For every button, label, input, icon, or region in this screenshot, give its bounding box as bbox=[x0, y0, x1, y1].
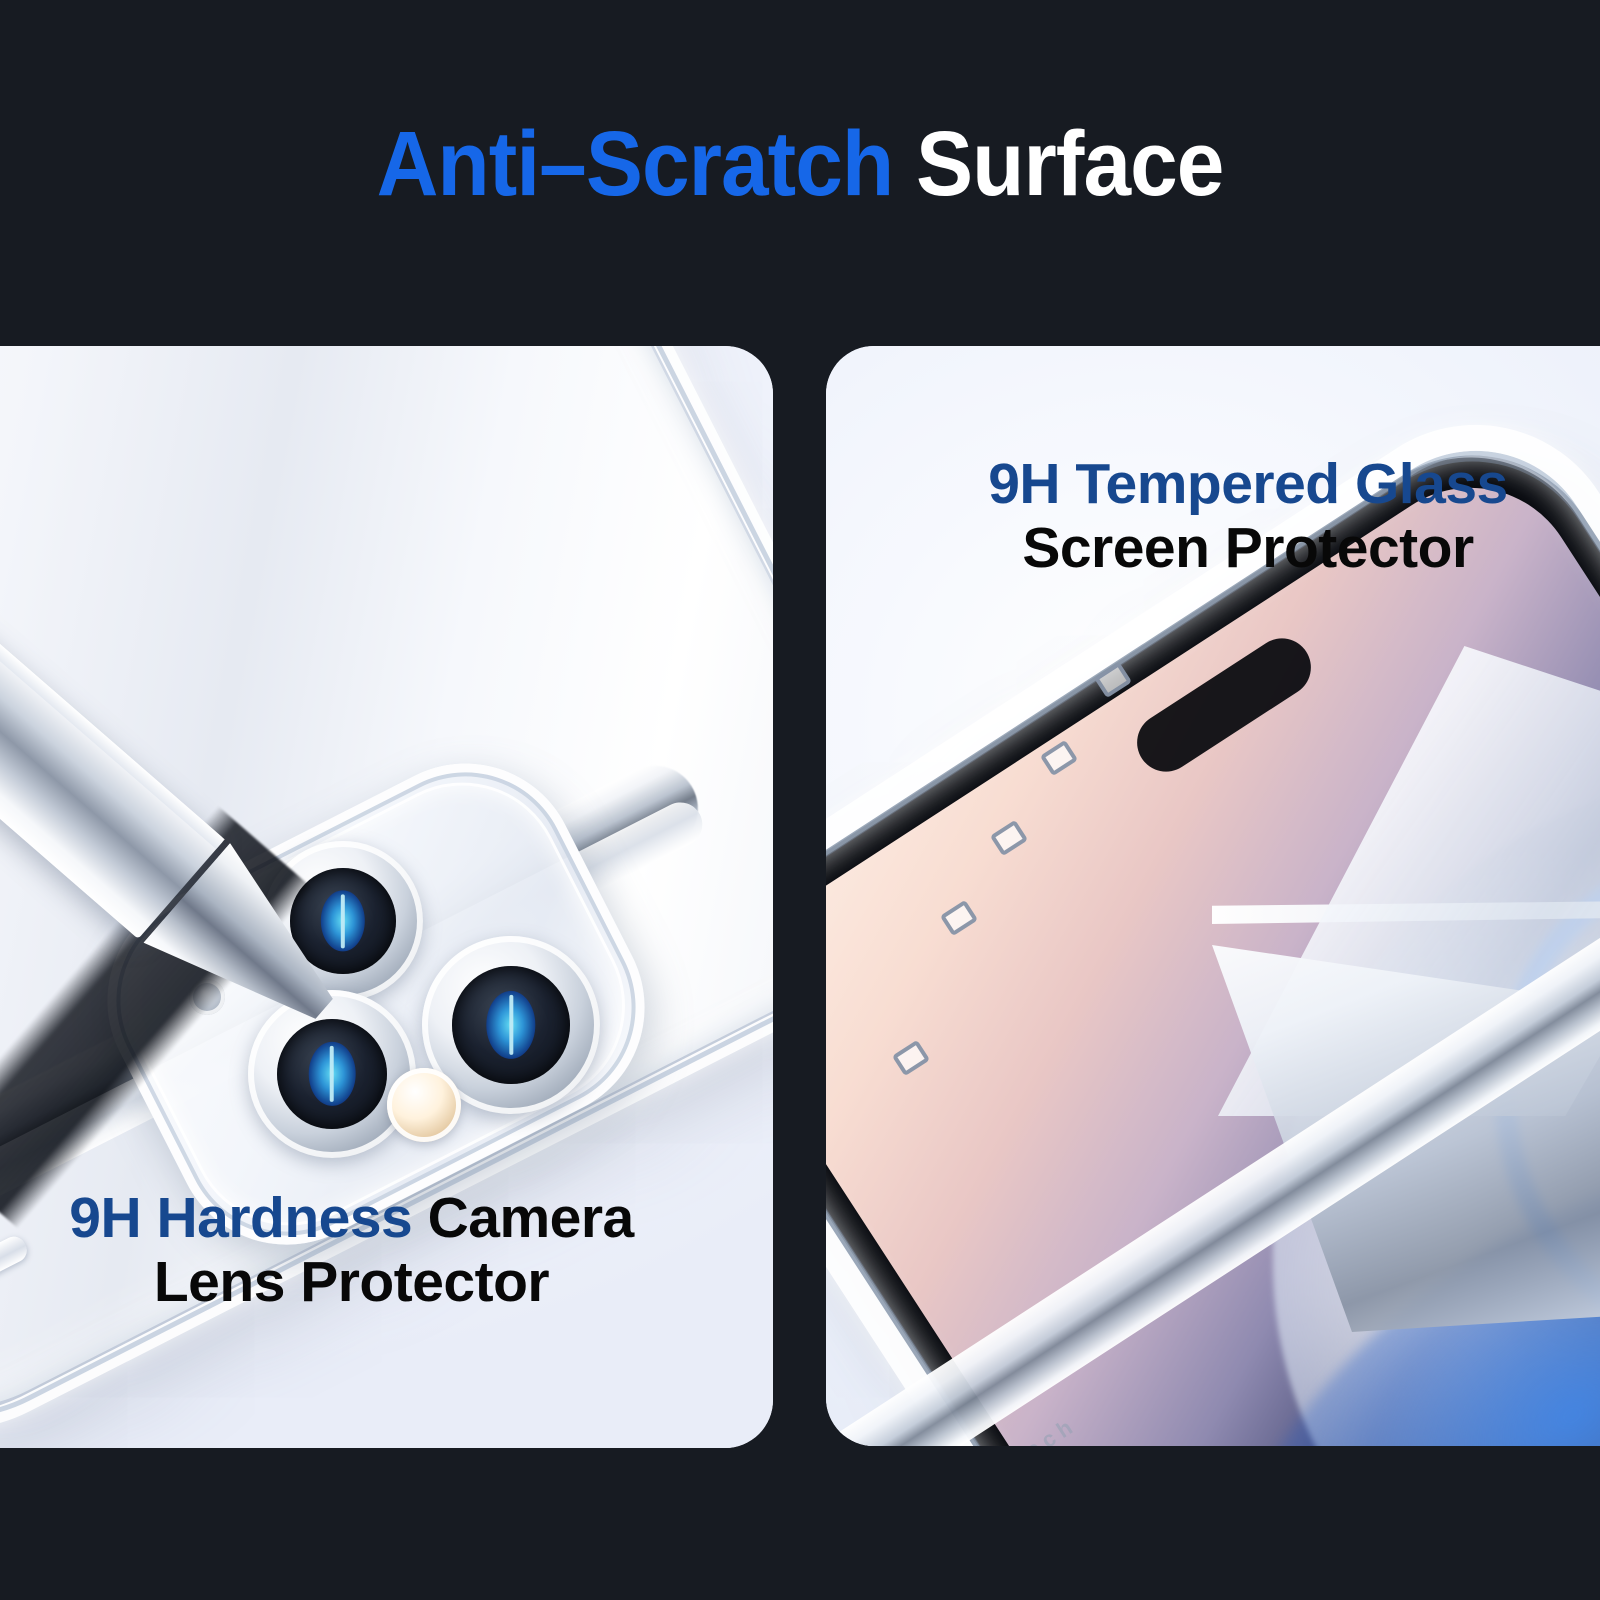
lens-glass bbox=[452, 966, 570, 1084]
caption-accent: 9H Hardness bbox=[69, 1186, 412, 1250]
headline-separator: – bbox=[539, 113, 586, 215]
headline-accent-2: Scratch bbox=[586, 113, 893, 215]
caption-line-1: 9H Hardness Camera bbox=[0, 1186, 773, 1250]
caption-camera-lens-protector: 9H Hardness Camera Lens Protector bbox=[0, 1186, 773, 1314]
lens-flare bbox=[321, 890, 365, 951]
caption-screen-protector: 9H Tempered Glass Screen Protector bbox=[826, 452, 1600, 580]
lens-flare bbox=[309, 1042, 356, 1106]
camera-flash-icon bbox=[387, 1068, 461, 1142]
camera-lens-wide bbox=[248, 990, 416, 1158]
caption-plain: Camera bbox=[428, 1186, 634, 1250]
caption-line-2: Lens Protector bbox=[0, 1250, 773, 1314]
lens-glass bbox=[277, 1019, 388, 1130]
lens-flare bbox=[486, 991, 535, 1059]
caption-line-2: Screen Protector bbox=[826, 516, 1600, 580]
page-title: Anti–Scratch Surface bbox=[56, 118, 1544, 210]
headline-accent: Anti bbox=[377, 113, 540, 215]
caption-line-1: 9H Tempered Glass bbox=[826, 452, 1600, 516]
headline-plain: Surface bbox=[916, 113, 1223, 215]
